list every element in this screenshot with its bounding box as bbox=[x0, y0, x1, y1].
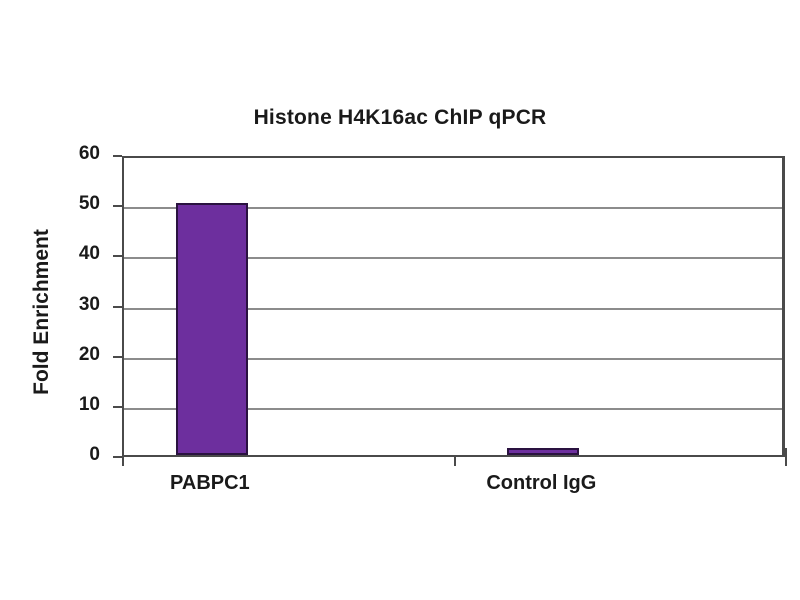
y-axis-tick-label: 0 bbox=[40, 444, 100, 466]
y-axis-tick-label: 10 bbox=[40, 394, 100, 416]
y-axis-tick-label: 40 bbox=[40, 243, 100, 265]
y-axis-tick-label: 50 bbox=[40, 193, 100, 215]
chart-figure: Histone H4K16ac ChIP qPCR Fold Enrichmen… bbox=[0, 0, 800, 600]
y-axis-tick bbox=[113, 306, 122, 308]
y-axis-tick bbox=[113, 356, 122, 358]
y-axis-tick bbox=[113, 406, 122, 408]
y-axis-tick-label: 60 bbox=[40, 143, 100, 165]
plot-area bbox=[122, 156, 785, 457]
x-axis-tick-label: PABPC1 bbox=[90, 472, 330, 495]
bar-pabpc1 bbox=[176, 203, 248, 455]
y-axis-tick bbox=[113, 255, 122, 257]
x-axis-end-tick bbox=[785, 448, 787, 466]
x-axis-tick-label: Control IgG bbox=[421, 472, 661, 495]
chart-title: Histone H4K16ac ChIP qPCR bbox=[0, 106, 800, 130]
y-axis-tick-label: 30 bbox=[40, 294, 100, 316]
x-axis-tick bbox=[454, 457, 456, 466]
y-axis-tick bbox=[113, 205, 122, 207]
bar-control-igg bbox=[507, 448, 579, 455]
y-axis-tick bbox=[113, 456, 122, 458]
x-axis-end-tick bbox=[122, 448, 124, 466]
y-axis-tick-label: 20 bbox=[40, 344, 100, 366]
y-axis-tick bbox=[113, 155, 122, 157]
